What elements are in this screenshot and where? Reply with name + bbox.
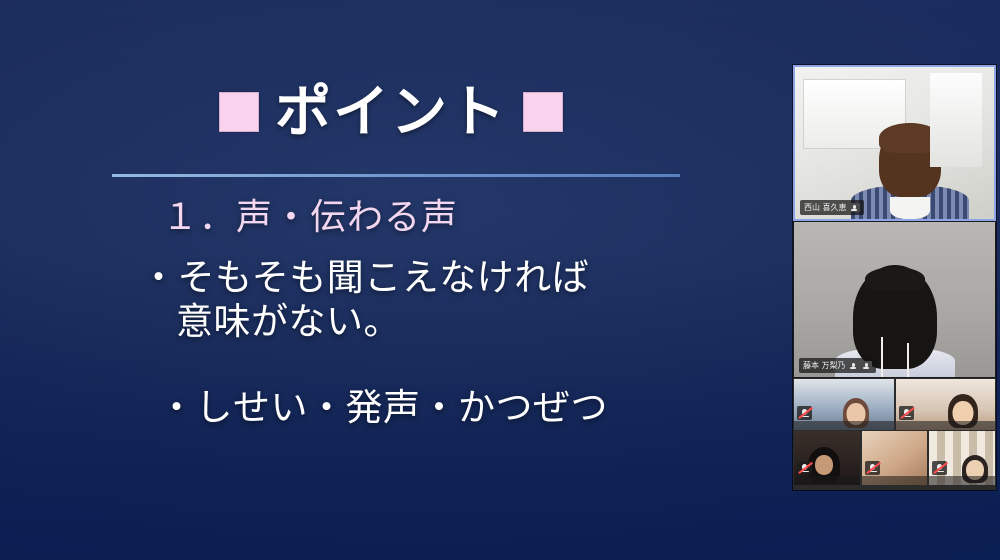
slide-title-row: ポイント — [0, 84, 782, 140]
video-thumbnail-row-1 — [793, 378, 996, 430]
bullet-2-line-1: ・しせい・発声・かつぜつ — [158, 386, 782, 430]
microphone-icon — [850, 203, 860, 212]
microphone-muted-icon — [797, 461, 812, 475]
microphone-muted-icon — [865, 461, 880, 475]
video-thumbnail-row-2 — [793, 430, 996, 486]
video-tile-participant-5[interactable] — [794, 431, 860, 485]
microphone-icon — [862, 361, 872, 370]
microphone-muted-icon — [899, 406, 914, 420]
microphone-muted-icon — [932, 461, 947, 475]
title-left-square-icon — [219, 92, 259, 132]
bullet-1-text-1: そもそも聞こえなければ — [178, 257, 590, 298]
tile-footer-strip — [929, 476, 995, 485]
tile-footer-strip — [794, 476, 860, 485]
participant-name-2: 藤本 万梨乃 — [803, 360, 846, 371]
video-scene-bright-room — [795, 67, 994, 219]
bullet-1-line-1: ・そもそも聞こえなければ — [140, 256, 782, 300]
video-scene-gray-wall — [794, 222, 995, 377]
tile-footer-strip — [896, 421, 996, 430]
video-tile-participant-4[interactable] — [896, 379, 996, 430]
video-tile-participant-7[interactable] — [929, 431, 995, 485]
participant-nameplate-1: 西山 喜久恵 — [800, 200, 864, 215]
bullet-2-text-1: しせい・発声・かつぜつ — [196, 387, 609, 428]
tile-footer-strip — [794, 421, 894, 430]
title-divider — [112, 174, 680, 177]
participant-name-1: 西山 喜久恵 — [804, 202, 847, 213]
bullet-2-marker: ・ — [158, 387, 196, 428]
bullet-1-marker: ・ — [140, 257, 178, 298]
microphone-muted-icon — [797, 406, 812, 420]
title-right-square-icon — [523, 92, 563, 132]
bullet-1-line-2: 意味がない。 — [176, 300, 782, 344]
headset-icon — [849, 361, 859, 370]
participant-nameplate-2: 藤本 万梨乃 — [799, 358, 876, 373]
video-tile-participant-1[interactable]: 西山 喜久恵 — [793, 65, 996, 221]
video-tile-participant-6[interactable] — [862, 431, 928, 485]
participant-silhouette — [845, 109, 975, 219]
video-tile-participant-2[interactable]: 藤本 万梨乃 — [793, 221, 996, 378]
tile-footer-strip — [862, 476, 928, 485]
slide-body: １．声・伝わる声 ・そもそも聞こえなければ 意味がない。 ・しせい・発声・かつぜ… — [0, 196, 782, 429]
page-title: ポイント — [275, 84, 507, 140]
body-heading: １．声・伝わる声 — [162, 196, 782, 238]
video-tile-participant-3[interactable] — [794, 379, 894, 430]
video-conference-panel: 西山 喜久恵 藤本 万梨乃 — [793, 65, 996, 490]
